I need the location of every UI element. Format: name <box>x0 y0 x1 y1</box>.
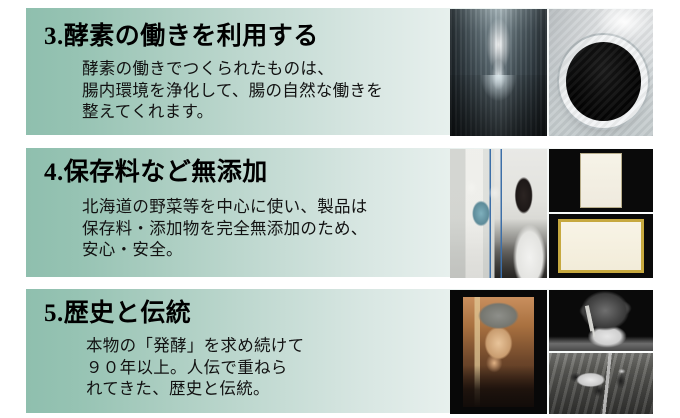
historic-speaker-photo <box>549 290 653 351</box>
panel-photo-collage <box>450 290 653 414</box>
panel-photo-collage <box>450 149 653 278</box>
panel-text-area: 4.保存料など無添加 北海道の野菜等を中心に使い、製品は 保存料・添加物を完全無… <box>26 148 456 277</box>
panel-description: 酵素の働きでつくられたものは、 腸内環境を浄化して、腸の自然な働きを 整えてくれ… <box>82 58 383 123</box>
certificate-portrait-photo <box>549 149 653 212</box>
certificate-landscape-photo <box>549 214 653 278</box>
panel-number: 4. <box>44 159 64 186</box>
panel-text-area: 5.歴史と伝統 本物の「発酵」を求め続けて ９０年以上。人伝で重ねら れてきた、… <box>26 289 456 413</box>
panel-number: 5. <box>44 300 64 327</box>
horse-plowing-field-photo <box>549 353 653 414</box>
feature-panel-4: 4.保存料など無添加 北海道の野菜等を中心に使い、製品は 保存料・添加物を完全無… <box>26 148 653 277</box>
panel-title-row: 5.歴史と伝統 <box>44 301 191 326</box>
factory-tank-corridor-photo <box>450 9 547 136</box>
panel-heading: 酵素の働きを利用する <box>64 23 319 50</box>
feature-list-page: 3.酵素の働きを利用する 酵素の働きでつくられたものは、 腸内環境を浄化して、腸… <box>0 0 680 418</box>
feature-panel-5: 5.歴史と伝統 本物の「発酵」を求め続けて ９０年以上。人伝で重ねら れてきた、… <box>26 289 653 413</box>
panel-text-area: 3.酵素の働きを利用する 酵素の働きでつくられたものは、 腸内環境を浄化して、腸… <box>26 8 456 135</box>
laboratory-inspection-photo <box>450 149 547 278</box>
panel-number: 3. <box>44 23 64 50</box>
panel-title-row: 4.保存料など無添加 <box>44 160 268 185</box>
panel-description: 北海道の野菜等を中心に使い、製品は 保存料・添加物を完全無添加のため、 安心・安… <box>82 196 368 261</box>
panel-heading: 保存料など無添加 <box>64 159 268 186</box>
feature-panel-3: 3.酵素の働きを利用する 酵素の働きでつくられたものは、 腸内環境を浄化して、腸… <box>26 8 653 135</box>
elder-craftsman-photo <box>450 290 547 414</box>
panel-description: 本物の「発酵」を求め続けて ９０年以上。人伝で重ねら れてきた、歴史と伝統。 <box>86 335 304 400</box>
open-fermentation-tank-photo <box>549 9 653 136</box>
panel-heading: 歴史と伝統 <box>64 300 192 327</box>
panel-title-row: 3.酵素の働きを利用する <box>44 24 319 49</box>
panel-photo-collage <box>450 9 653 136</box>
